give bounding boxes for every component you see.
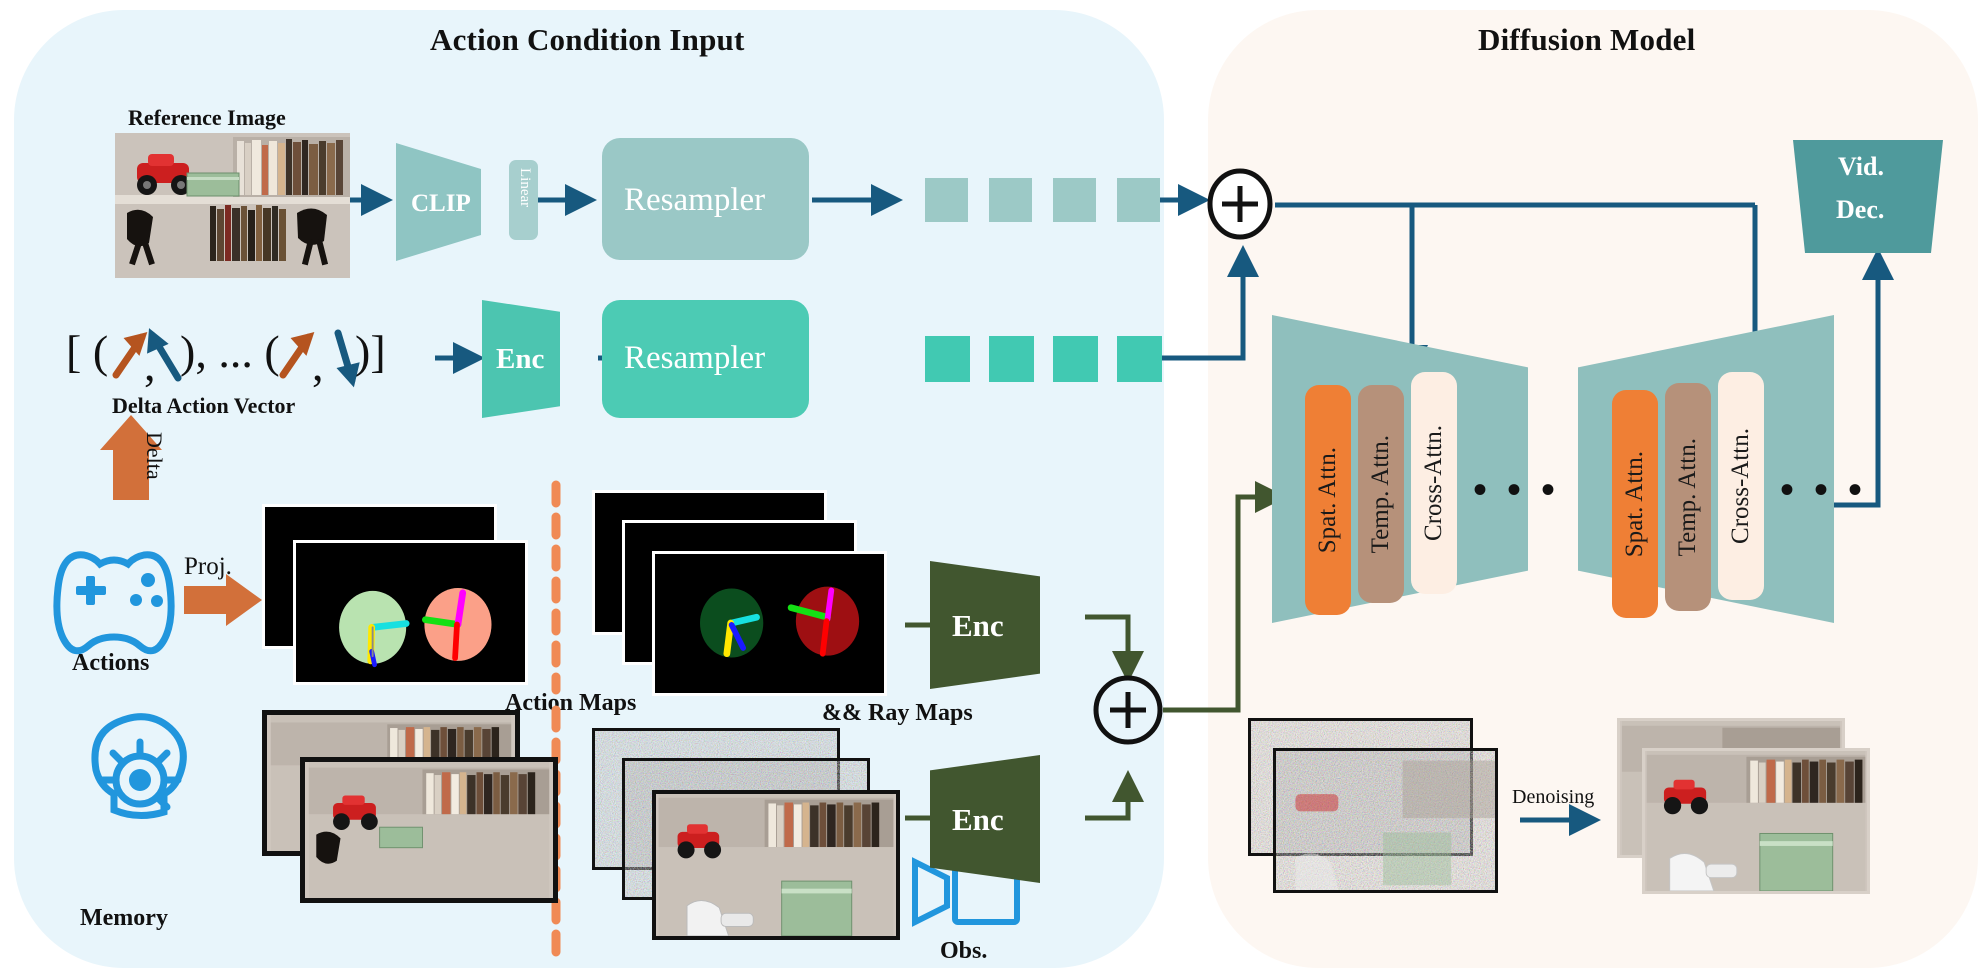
- decoder-cross-attn-chip[interactable]: Cross-Attn.: [1718, 372, 1764, 600]
- delta-vector-comma-2: ,: [312, 338, 324, 391]
- memory-label: Memory: [80, 905, 168, 932]
- ray-maps-enc-label: Enc: [952, 608, 1004, 644]
- encoder-temp-attn-chip[interactable]: Temp. Attn.: [1358, 385, 1404, 603]
- encoder-spat-attn-label: Spat. Attn.: [1314, 447, 1342, 553]
- delta-vector-bracket-open: [ (: [66, 325, 108, 378]
- encoder-cross-attn-chip[interactable]: Cross-Attn.: [1411, 372, 1457, 594]
- reference-token-4: [1117, 178, 1160, 222]
- reference-token-1: [925, 178, 968, 222]
- delta-vector-comma-1: ,: [144, 338, 156, 391]
- vid-dec-line-2: Dec.: [1836, 195, 1884, 225]
- clean-output-frame-front: [1642, 748, 1870, 894]
- reference-token-3: [1053, 178, 1096, 222]
- decoder-spat-attn-label: Spat. Attn.: [1621, 451, 1649, 557]
- panel-title-diffusion-model: Diffusion Model: [1478, 22, 1695, 58]
- ray-map-frame-front: [652, 551, 887, 696]
- encoder-cross-attn-label: Cross-Attn.: [1420, 425, 1448, 541]
- obs-frame-front: [652, 790, 900, 940]
- obs-label: Obs.: [940, 938, 987, 965]
- delta-action-vector-caption: Delta Action Vector: [112, 393, 295, 419]
- proj-label: Proj.: [184, 553, 232, 581]
- ray-maps-caption: && Ray Maps: [822, 700, 973, 727]
- delta-token-3: [1053, 336, 1098, 382]
- denoising-label: Denoising: [1512, 786, 1594, 809]
- decoder-cross-attn-label: Cross-Attn.: [1727, 428, 1755, 544]
- delta-arrow-label: Delta: [141, 432, 167, 480]
- noisy-output-frame-front: [1273, 748, 1498, 893]
- reference-image-thumbnail: [115, 133, 350, 278]
- delta-token-4: [1117, 336, 1162, 382]
- delta-vector-middle: ), ... (: [180, 325, 280, 378]
- delta-enc-label: Enc: [496, 343, 544, 376]
- delta-token-1: [925, 336, 970, 382]
- resampler-top-label: Resampler: [624, 182, 765, 219]
- panel-title-action-condition: Action Condition Input: [430, 22, 745, 58]
- actions-label: Actions: [72, 650, 149, 677]
- action-maps-caption: Action Maps: [505, 690, 636, 717]
- memory-frame-front: [300, 757, 558, 903]
- decoder-temp-attn-label: Temp. Attn.: [1674, 438, 1702, 556]
- vid-dec-line-1: Vid.: [1838, 152, 1884, 182]
- resampler-bottom-label: Resampler: [624, 340, 765, 377]
- reference-image-caption: Reference Image: [128, 105, 286, 131]
- encoder-spat-attn-chip[interactable]: Spat. Attn.: [1305, 385, 1351, 615]
- encoder-ellipsis: • • •: [1473, 470, 1560, 510]
- decoder-temp-attn-chip[interactable]: Temp. Attn.: [1665, 383, 1711, 611]
- encoder-temp-attn-label: Temp. Attn.: [1367, 435, 1395, 553]
- decoder-spat-attn-chip[interactable]: Spat. Attn.: [1612, 390, 1658, 618]
- delta-token-2: [989, 336, 1034, 382]
- decoder-ellipsis: • • •: [1780, 470, 1867, 510]
- reference-token-2: [989, 178, 1032, 222]
- action-map-frame-front: [293, 540, 528, 685]
- obs-enc-label: Enc: [952, 802, 1004, 838]
- linear-label: Linear: [516, 168, 533, 207]
- clip-label: CLIP: [411, 190, 471, 218]
- delta-vector-bracket-close: )]: [355, 325, 386, 378]
